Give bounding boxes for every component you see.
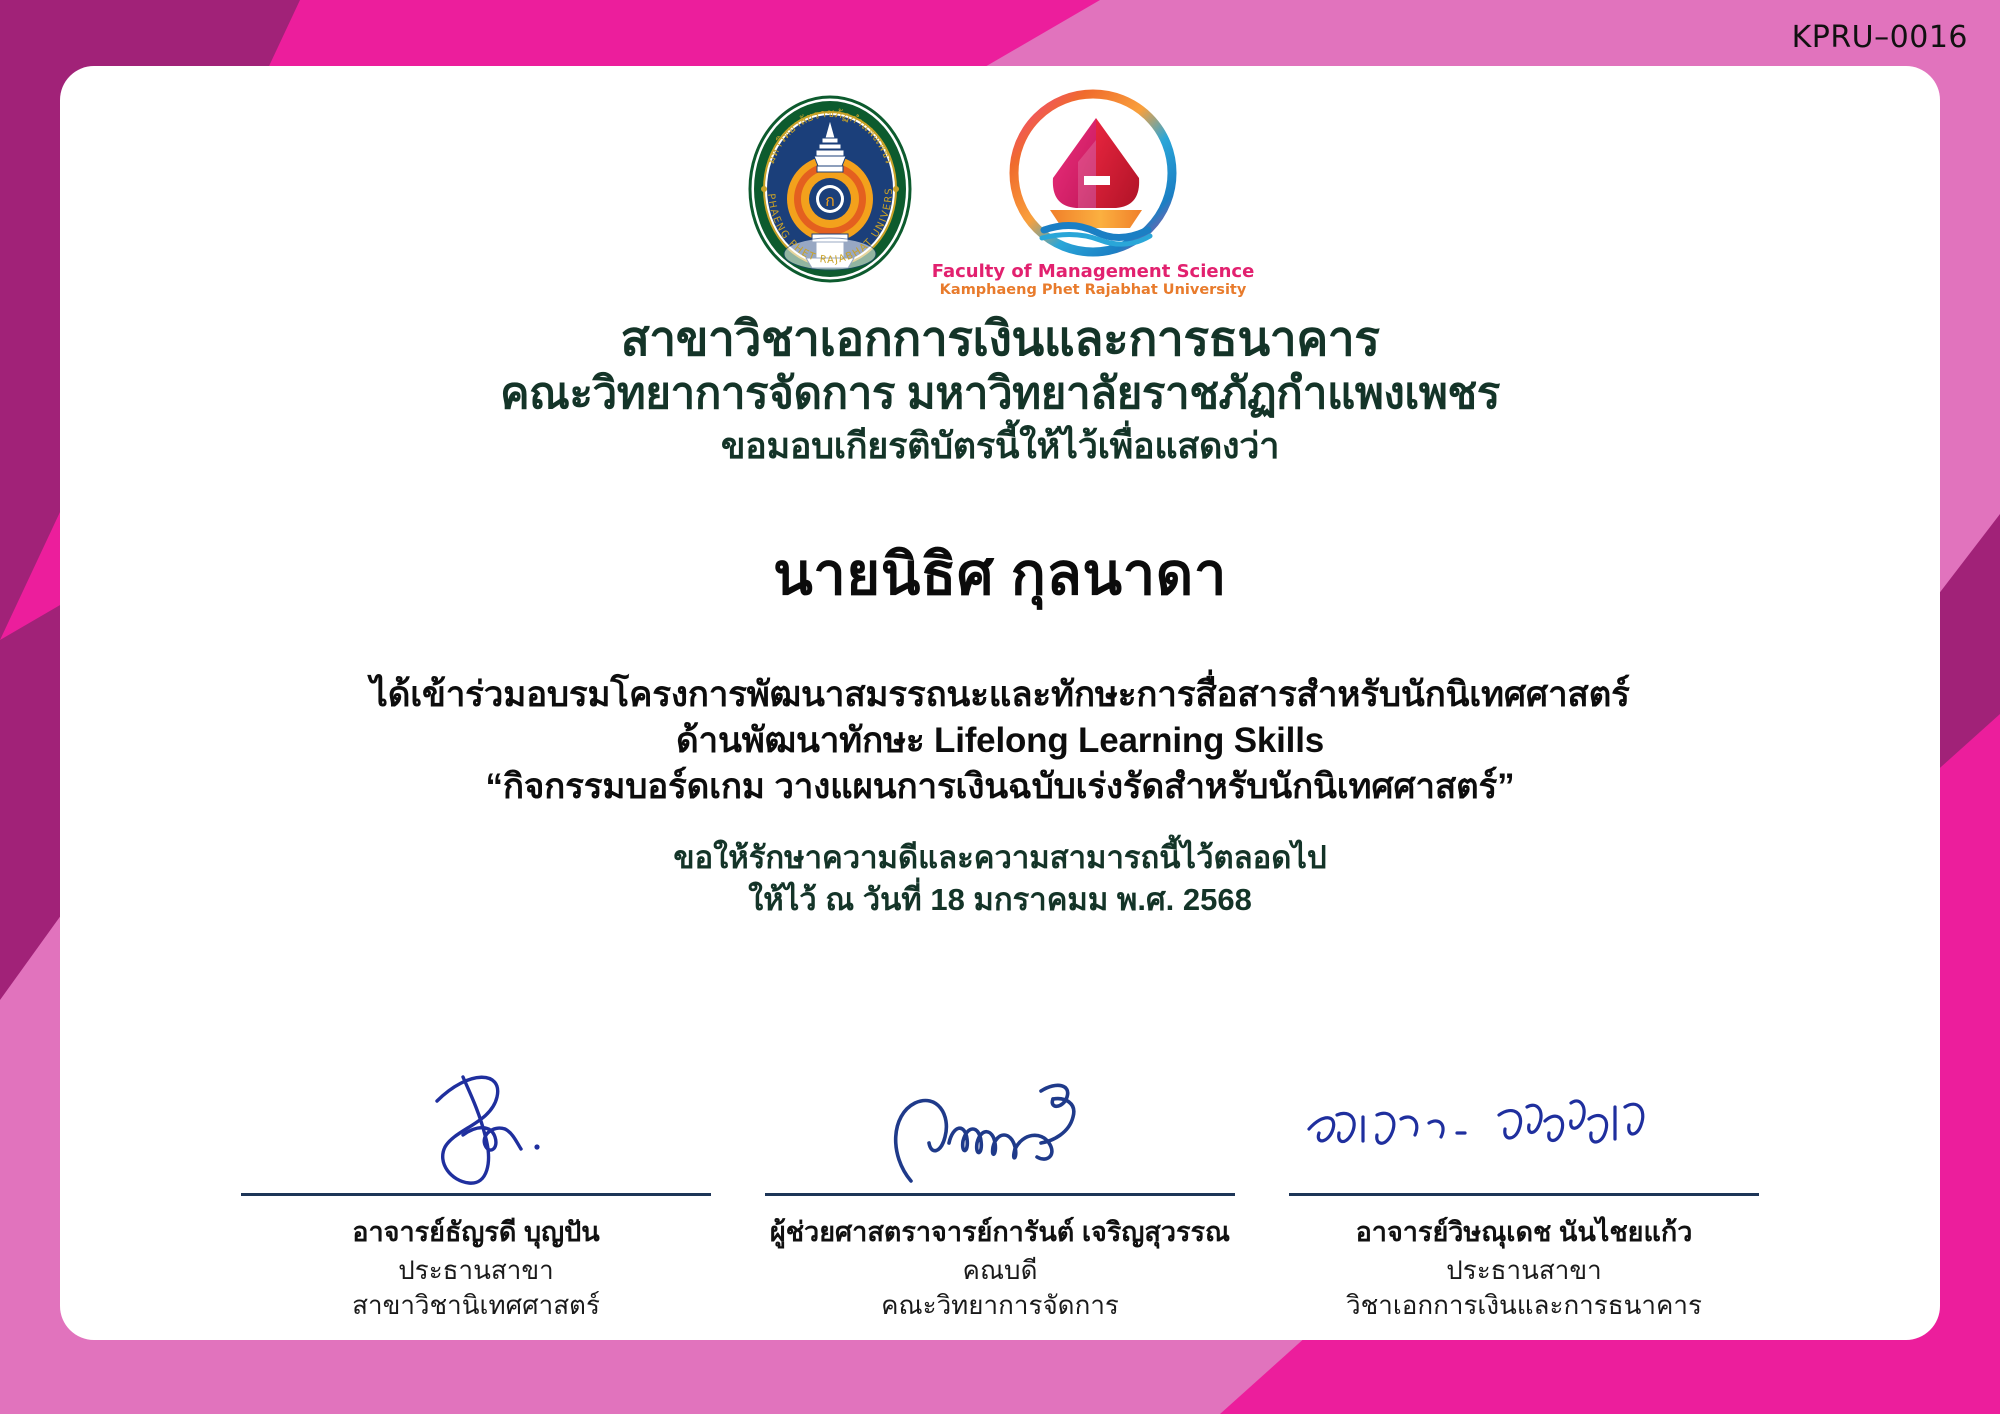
signature-block-1: อาจารย์ธัญรดี บุญปัน ประธานสาขา สาขาวิชา… — [241, 1077, 711, 1322]
closing-date-line: ให้ไว้ ณ วันที่ 18 มกราคมม พ.ศ. 2568 — [60, 879, 1940, 922]
signature-row: อาจารย์ธัญรดี บุญปัน ประธานสาขา สาขาวิชา… — [60, 1077, 1940, 1322]
signatory-org-1: สาขาวิชานิเทศศาสตร์ — [241, 1288, 711, 1322]
faculty-logo-block: Faculty of Management Science Kamphaeng … — [932, 80, 1255, 298]
svg-text:ก: ก — [825, 191, 835, 210]
certificate-heading: สาขาวิชาเอกการเงินและการธนาคาร คณะวิทยาก… — [60, 312, 1940, 473]
logo-row: ก — [60, 66, 1940, 298]
handwritten-signature-icon-3 — [1289, 1077, 1759, 1193]
signatory-name-1: อาจารย์ธัญรดี บุญปัน — [241, 1216, 711, 1250]
certificate-card: ก — [60, 66, 1940, 1340]
signatory-name-3: อาจารย์วิษณุเดช นันไชยแก้ว — [1289, 1216, 1759, 1250]
handwritten-signature-icon-1 — [241, 1077, 711, 1193]
signatory-org-2: คณะวิทยาการจัดการ — [765, 1288, 1235, 1322]
kpru-university-seal-icon: ก — [746, 94, 914, 284]
signatory-name-2: ผู้ช่วยศาสตราจารย์การันต์ เจริญสุวรรณ — [765, 1216, 1235, 1250]
signature-block-2: ผู้ช่วยศาสตราจารย์การันต์ เจริญสุวรรณ คณ… — [765, 1077, 1235, 1322]
signature-block-3: อาจารย์วิษณุเดช นันไชยแก้ว ประธานสาขา วิ… — [1289, 1077, 1759, 1322]
heading-line-1: สาขาวิชาเอกการเงินและการธนาคาร — [60, 312, 1940, 368]
body-line-2: ด้านพัฒนาทักษะ Lifelong Learning Skills — [60, 718, 1940, 764]
heading-line-3: ขอมอบเกียรติบัตรนี้ให้ไว้เพื่อแสดงว่า — [60, 419, 1940, 473]
certificate-closing: ขอให้รักษาความดีและความสามารถนี้ไว้ตลอดไ… — [60, 837, 1940, 923]
signatory-role-3: ประธานสาขา — [1289, 1253, 1759, 1287]
certificate-body: ได้เข้าร่วมอบรมโครงการพัฒนาสมรรถนะและทัก… — [60, 672, 1940, 811]
closing-line-1: ขอให้รักษาความดีและความสามารถนี้ไว้ตลอดไ… — [60, 837, 1940, 880]
faculty-caption-line2: Kamphaeng Phet Rajabhat University — [932, 282, 1255, 298]
recipient-name: นายนิธิศ กุลนาดา — [60, 527, 1940, 620]
body-line-1: ได้เข้าร่วมอบรมโครงการพัฒนาสมรรถนะและทัก… — [60, 672, 1940, 718]
signatory-org-3: วิชาเอกการเงินและการธนาคาร — [1289, 1288, 1759, 1322]
body-line-3: “กิจกรรมบอร์ดเกม วางแผนการเงินฉบับเร่งรั… — [60, 764, 1940, 810]
signatory-role-2: คณบดี — [765, 1253, 1235, 1287]
handwritten-signature-icon-2 — [765, 1077, 1235, 1193]
faculty-logo-caption: Faculty of Management Science Kamphaeng … — [932, 262, 1255, 298]
faculty-of-management-science-logo-icon — [1000, 80, 1186, 266]
signatory-role-1: ประธานสาขา — [241, 1253, 711, 1287]
heading-line-2: คณะวิทยาการจัดการ มหาวิทยาลัยราชภัฏกำแพง… — [60, 368, 1940, 419]
certificate-serial-number: KPRU–0016 — [1792, 20, 1968, 55]
